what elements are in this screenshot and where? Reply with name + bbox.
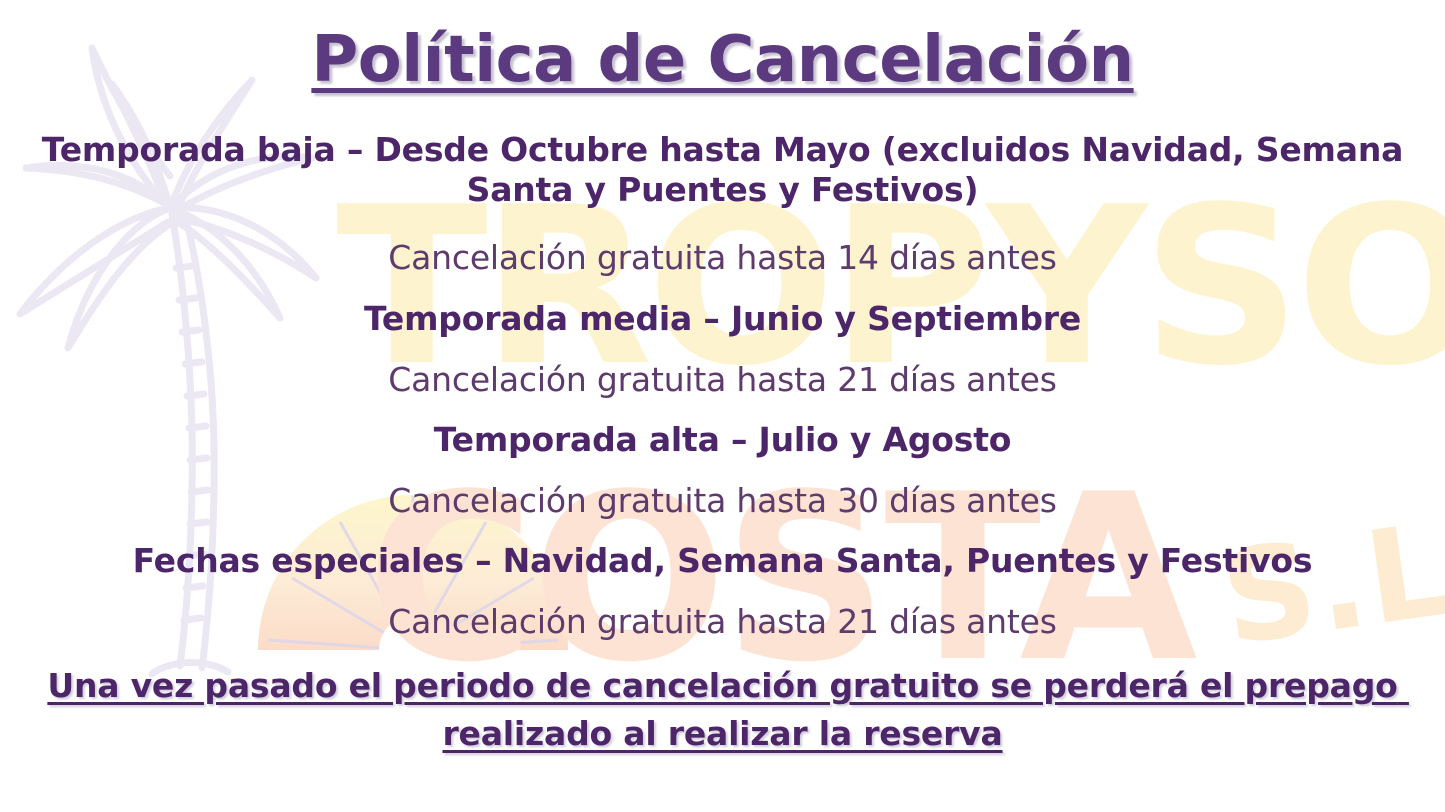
policy-rule-low-season: Cancelación gratuita hasta 14 días antes (10, 238, 1435, 278)
policy-content: Política de Cancelación Temporada baja –… (0, 0, 1445, 812)
policy-heading-special-dates: Fechas especiales – Navidad, Semana Sant… (10, 541, 1435, 581)
cancellation-policy-page: TROPYSOL CO (0, 0, 1445, 812)
policy-rule-mid-season: Cancelación gratuita hasta 21 días antes (10, 360, 1435, 400)
policy-heading-low-season: Temporada baja – Desde Octubre hasta May… (10, 130, 1435, 210)
policy-heading-high-season: Temporada alta – Julio y Agosto (10, 420, 1435, 460)
page-title: Política de Cancelación (0, 22, 1445, 98)
policy-rule-special-dates: Cancelación gratuita hasta 21 días antes (10, 602, 1435, 642)
policy-footer-note: Una vez pasado el periodo de cancelación… (10, 662, 1435, 758)
policy-heading-mid-season: Temporada media – Junio y Septiembre (10, 299, 1435, 339)
policy-rule-high-season: Cancelación gratuita hasta 30 días antes (10, 481, 1435, 521)
